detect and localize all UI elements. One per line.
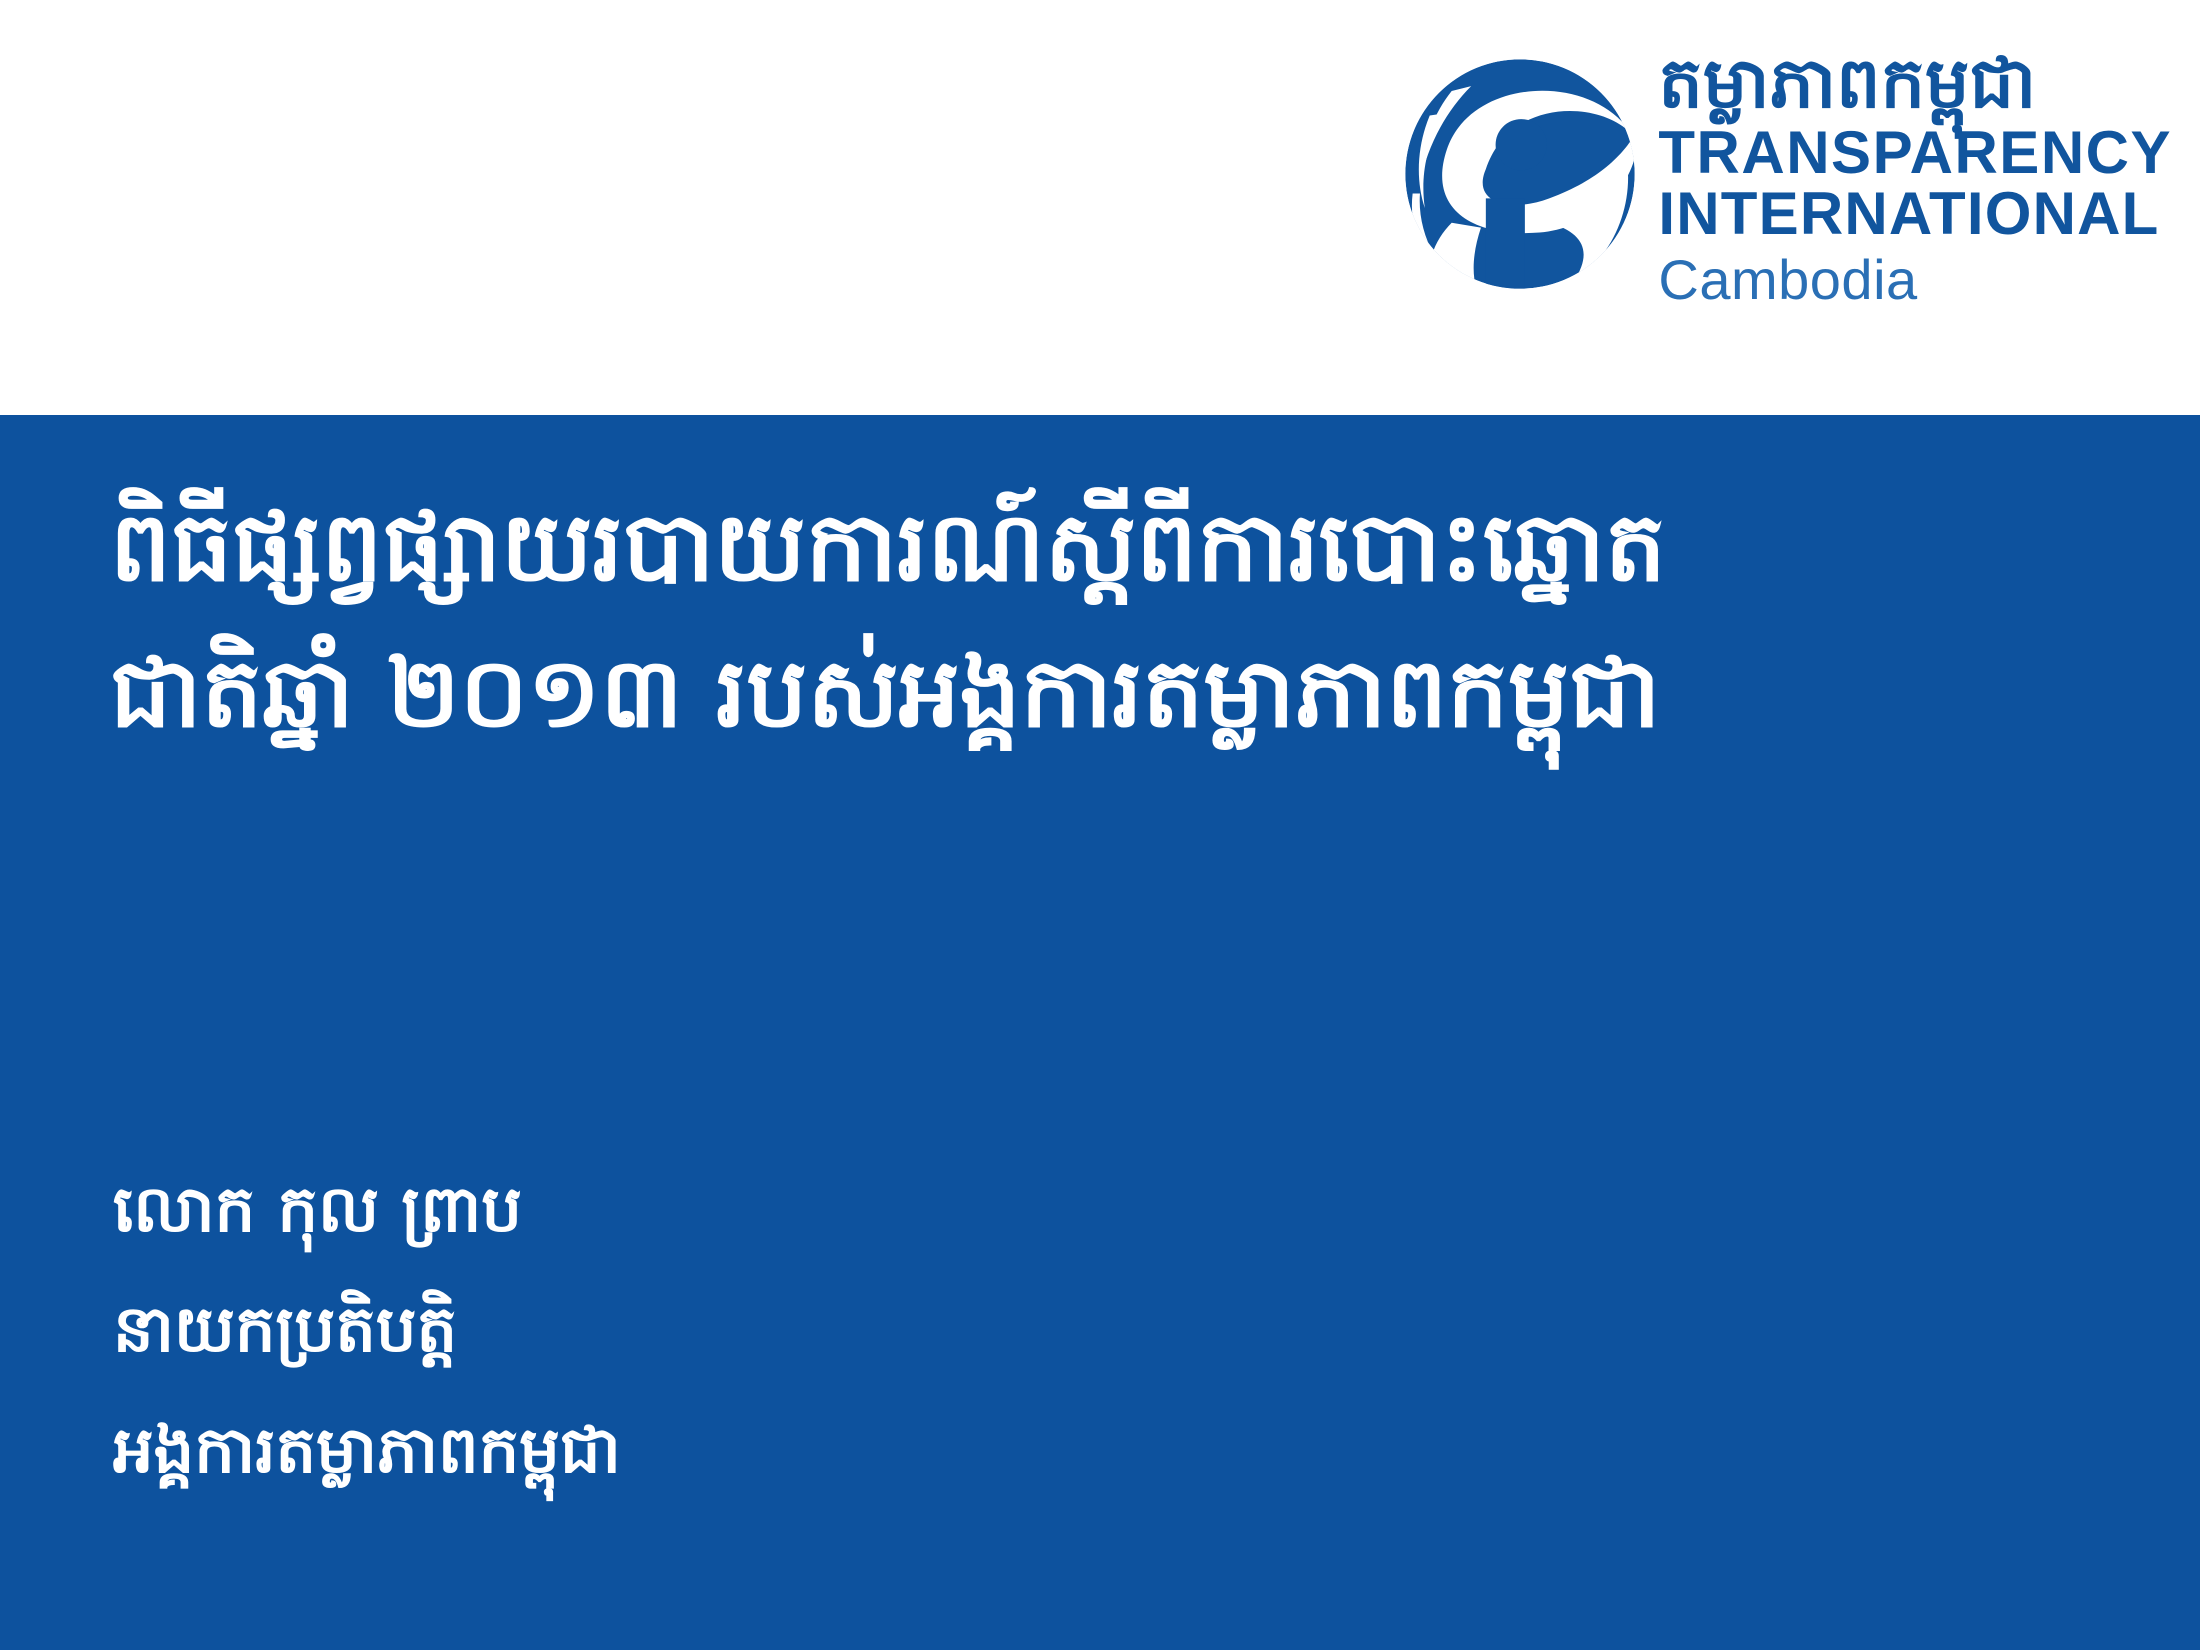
- presentation-title-slide: តម្លាភាពកម្ពុជា TRANSPARENCY INTERNATION…: [0, 0, 2200, 1650]
- logo-wordmark: តម្លាភាពកម្ពុជា TRANSPARENCY INTERNATION…: [1658, 42, 2172, 311]
- title-line-2: ជាតិឆ្នាំ ២០១៣ របស់អង្គការតម្លាភាពកម្ពុជ…: [110, 621, 2110, 767]
- organization-logo: តម្លាភាពកម្ពុជា TRANSPARENCY INTERNATION…: [1398, 42, 2172, 311]
- logo-country-text: Cambodia: [1658, 249, 1917, 311]
- presenter-info: លោក កុល ព្រាប នាយកប្រតិបត្តិ អង្គការតម្ល…: [113, 1150, 1513, 1511]
- slide-body-panel: ពិធីផ្សព្វផ្សាយរបាយការណ៍ស្ដីពីការបោះឆ្នោ…: [0, 415, 2200, 1650]
- logo-transparency-text: TRANSPARENCY: [1658, 122, 2172, 184]
- logo-international-text: INTERNATIONAL: [1658, 183, 2159, 245]
- transparency-international-globe-icon: [1398, 52, 1642, 296]
- slide-title: ពិធីផ្សព្វផ្សាយរបាយការណ៍ស្ដីពីការបោះឆ្នោ…: [110, 475, 2110, 767]
- presenter-organization: អង្គការតម្លាភាពកម្ពុជា: [113, 1391, 1513, 1511]
- presenter-role: នាយកប្រតិបត្តិ: [113, 1270, 1513, 1390]
- title-line-1: ពិធីផ្សព្វផ្សាយរបាយការណ៍ស្ដីពីការបោះឆ្នោ…: [110, 475, 2110, 621]
- presenter-name: លោក កុល ព្រាប: [113, 1150, 1513, 1270]
- header-band: តម្លាភាពកម្ពុជា TRANSPARENCY INTERNATION…: [0, 0, 2200, 415]
- logo-khmer-name: តម្លាភាពកម្ពុជា: [1658, 46, 2036, 122]
